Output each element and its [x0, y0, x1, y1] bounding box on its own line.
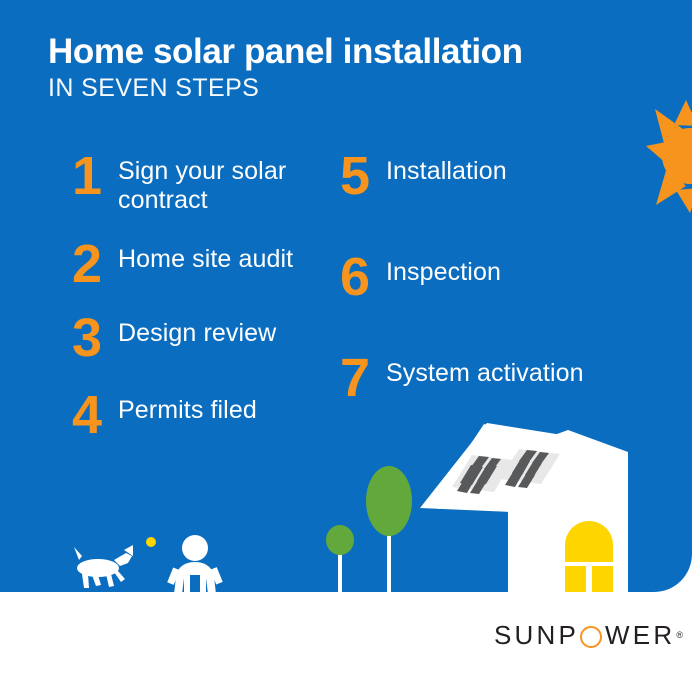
step-label: Permits filed [118, 389, 257, 425]
logo-text-wer: WER [605, 622, 675, 648]
logo-text-p: P [559, 622, 580, 648]
step-label: Installation [386, 150, 507, 186]
step-label: Sign your solar contract [118, 150, 332, 216]
sunpower-logo: SUN P WER ® [494, 622, 683, 648]
solar-panel-icon [452, 449, 560, 494]
sun-icon [646, 100, 692, 213]
large-tree-icon [366, 466, 412, 592]
dog-icon [74, 545, 133, 588]
step-number: 1 [72, 150, 118, 203]
step-number: 2 [72, 238, 118, 291]
step-label: System activation [386, 352, 584, 388]
header-block: Home solar panel installation IN SEVEN S… [48, 33, 648, 103]
steps-column-right: 5 Installation 6 Inspection 7 System act… [340, 150, 640, 453]
step-label: Design review [118, 312, 276, 348]
registered-trademark-symbol: ® [676, 630, 683, 640]
page-subtitle: IN SEVEN STEPS [48, 74, 648, 104]
blue-background-panel: Home solar panel installation IN SEVEN S… [0, 0, 692, 592]
step-item-4: 4 Permits filed [72, 389, 332, 442]
step-number: 6 [340, 251, 386, 304]
steps-column-left: 1 Sign your solar contract 2 Home site a… [72, 150, 332, 458]
step-item-3: 3 Design review [72, 312, 332, 365]
infographic-poster: Home solar panel installation IN SEVEN S… [0, 0, 692, 682]
small-tree-icon [326, 525, 354, 592]
person-icon [167, 535, 222, 592]
step-number: 7 [340, 352, 386, 405]
step-item-7: 7 System activation [340, 352, 640, 405]
step-label: Inspection [386, 251, 501, 287]
step-number: 3 [72, 312, 118, 365]
step-item-6: 6 Inspection [340, 251, 640, 304]
arched-door-icon [565, 521, 613, 592]
ball-icon [146, 537, 156, 547]
step-item-5: 5 Installation [340, 150, 640, 203]
step-item-1: 1 Sign your solar contract [72, 150, 332, 216]
logo-text-sun: SUN [494, 622, 559, 648]
step-number: 5 [340, 150, 386, 203]
step-number: 4 [72, 389, 118, 442]
step-label: Home site audit [118, 238, 293, 274]
step-item-2: 2 Home site audit [72, 238, 332, 291]
page-title: Home solar panel installation [48, 33, 648, 71]
logo-o-ring-icon [580, 626, 602, 648]
